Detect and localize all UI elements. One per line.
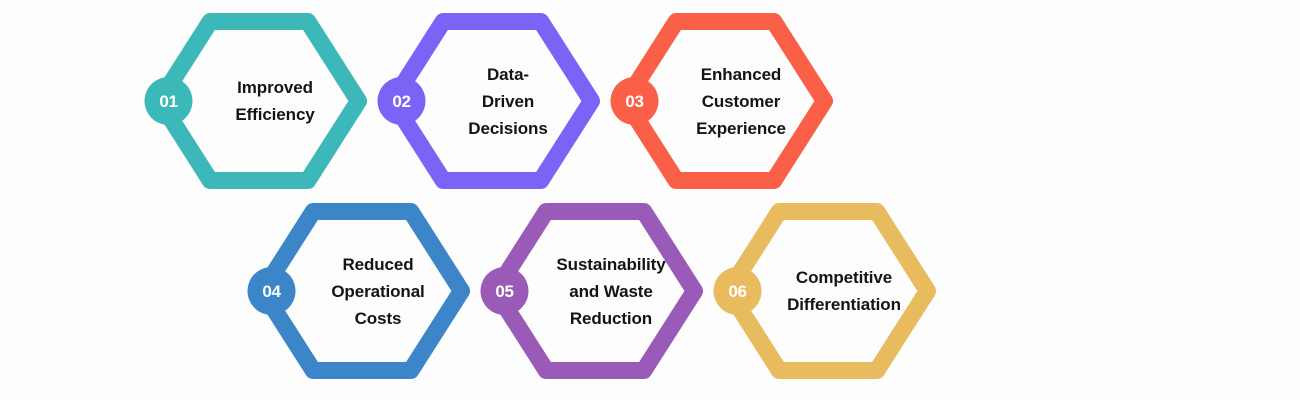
number-badge-label: 05 (495, 282, 513, 301)
number-badge-label: 03 (625, 92, 643, 111)
hexagon-label: Improved Efficiency (192, 12, 356, 190)
hexagon-label: Reduced Operational Costs (295, 202, 459, 380)
hexagon-node-03[interactable]: 03Enhanced Customer Experience (616, 12, 834, 190)
number-badge-label: 02 (392, 92, 410, 111)
hexagon-label: Data- Driven Decisions (425, 12, 589, 190)
hexagon-node-01[interactable]: 01Improved Efficiency (150, 12, 368, 190)
number-badge-label: 04 (262, 282, 281, 301)
hexagon-label: Competitive Differentiation (761, 202, 925, 380)
number-badge-label: 06 (728, 282, 746, 301)
hexagon-node-06[interactable]: 06Competitive Differentiation (719, 202, 937, 380)
hexagon-label: Enhanced Customer Experience (658, 12, 822, 190)
hexagon-label: Sustainability and Waste Reduction (528, 202, 692, 380)
number-badge-label: 01 (159, 92, 177, 111)
hexagon-node-02[interactable]: 02Data- Driven Decisions (383, 12, 601, 190)
hexagon-node-05[interactable]: 05Sustainability and Waste Reduction (486, 202, 704, 380)
hexagon-infographic: 01Improved Efficiency02Data- Driven Deci… (0, 0, 1300, 400)
hexagon-node-04[interactable]: 04Reduced Operational Costs (253, 202, 471, 380)
